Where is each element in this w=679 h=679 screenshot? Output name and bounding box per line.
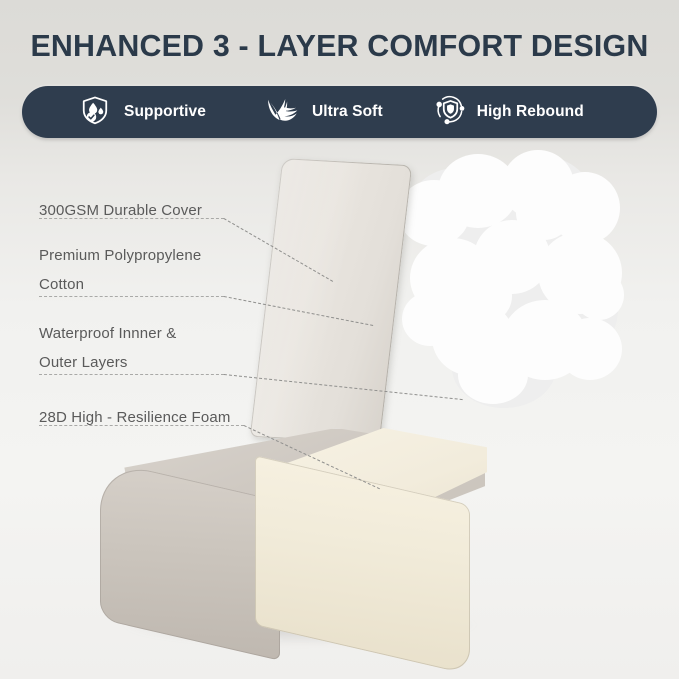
infographic-page: ENHANCED 3 - LAYER COMFORT DESIGN Suppor… xyxy=(0,0,679,679)
annotation-line: Premium Polypropylene xyxy=(39,241,201,270)
annotation-line: 300GSM Durable Cover xyxy=(39,196,202,225)
annotation-line: 28D High - Resilience Foam xyxy=(39,403,230,432)
feature-badge-high-rebound[interactable]: High Rebound xyxy=(435,86,584,138)
backrest-cushion xyxy=(250,158,413,444)
annotation-cotton: Premium Polypropylene Cotton xyxy=(39,241,201,299)
annotation-line: Waterproof Innner & xyxy=(39,319,176,348)
cotton-fill xyxy=(398,150,628,415)
leader-rule xyxy=(39,218,224,219)
feature-badge-supportive[interactable]: Supportive xyxy=(80,86,206,138)
feature-badge-ultra-soft[interactable]: Ultra Soft xyxy=(266,86,383,138)
feature-badge-bar: Supportive Ultra Soft xyxy=(22,86,657,138)
annotation-line: Cotton xyxy=(39,270,201,299)
feature-badge-label: Supportive xyxy=(124,103,206,121)
feature-badge-label: High Rebound xyxy=(477,103,584,121)
feather-icon xyxy=(266,96,300,129)
annotation-foam: 28D High - Resilience Foam xyxy=(39,403,230,432)
annotation-line: Outer Layers xyxy=(39,348,176,377)
shield-droplet-check-icon xyxy=(80,95,110,130)
leader-rule xyxy=(39,374,224,375)
annotation-cover: 300GSM Durable Cover xyxy=(39,196,202,225)
leader-rule xyxy=(39,296,224,297)
page-title: ENHANCED 3 - LAYER COMFORT DESIGN xyxy=(7,27,672,65)
annotation-waterproof: Waterproof Innner & Outer Layers xyxy=(39,319,176,377)
feature-badge-label: Ultra Soft xyxy=(312,103,383,121)
shield-orbit-icon xyxy=(435,94,466,130)
leader-rule xyxy=(39,425,244,426)
